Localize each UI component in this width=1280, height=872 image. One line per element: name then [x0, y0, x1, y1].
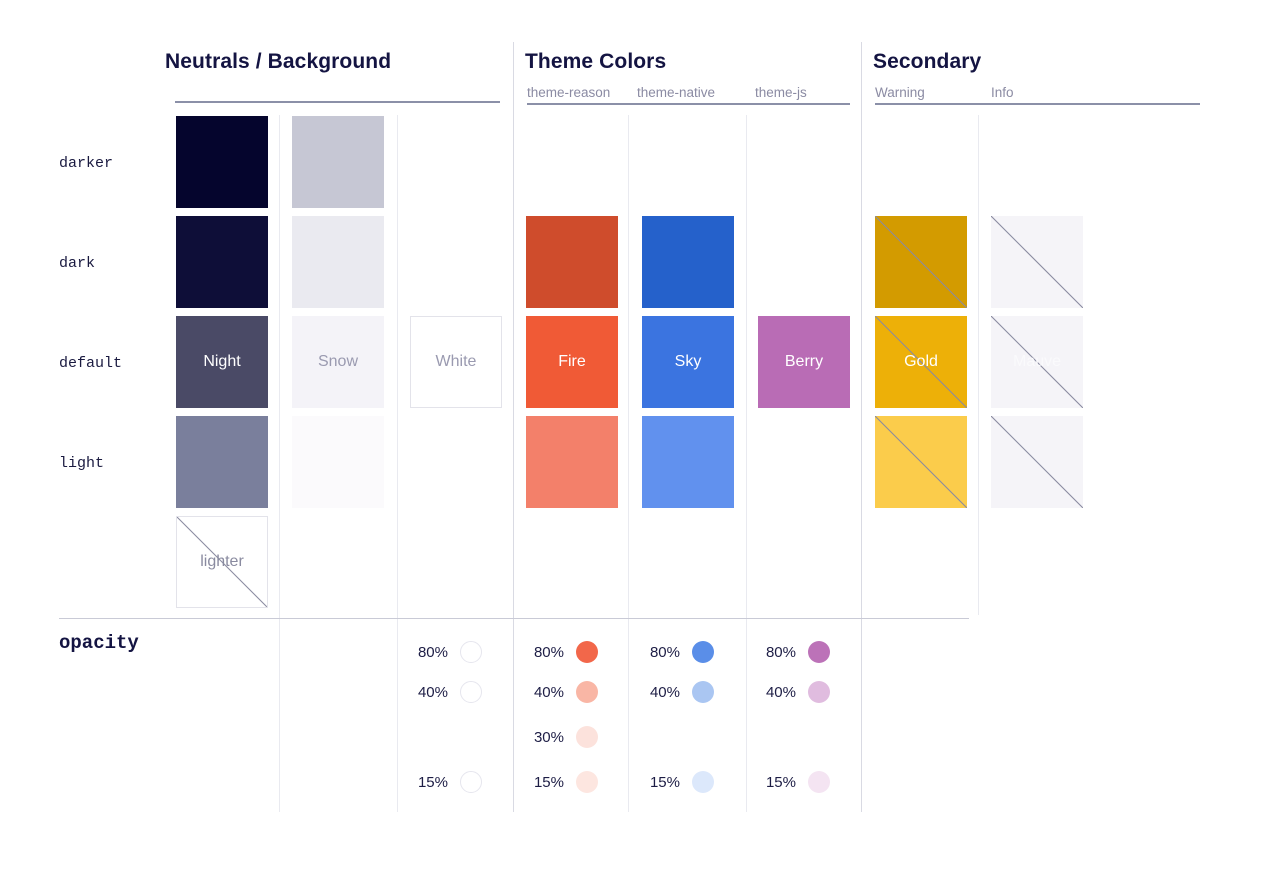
opacity-dot-white	[460, 641, 482, 663]
opacity-dot-fire	[576, 726, 598, 748]
opacity-item-white-15[interactable]: 15%	[410, 771, 482, 793]
opacity-dot-sky	[692, 641, 714, 663]
opacity-item-sky-15[interactable]: 15%	[642, 771, 714, 793]
opacity-item-fire-40[interactable]: 40%	[526, 681, 598, 703]
opacity-dot-fire	[576, 681, 598, 703]
opacity-dot-berry	[808, 771, 830, 793]
opacity-item-fire-30[interactable]: 30%	[526, 726, 598, 748]
opacity-value-label: 40%	[410, 684, 448, 701]
opacity-dot-fire	[576, 641, 598, 663]
opacity-item-white-80[interactable]: 80%	[410, 641, 482, 663]
opacity-item-berry-15[interactable]: 15%	[758, 771, 830, 793]
opacity-value-label: 15%	[642, 774, 680, 791]
opacity-value-label: 80%	[410, 644, 448, 661]
opacity-dot-sky	[692, 681, 714, 703]
opacity-item-berry-40[interactable]: 40%	[758, 681, 830, 703]
palette-sheet: Neutrals / Background Theme Colors theme…	[0, 0, 1280, 872]
opacity-value-label: 40%	[642, 684, 680, 701]
opacity-dot-berry	[808, 681, 830, 703]
opacity-value-label: 15%	[526, 774, 564, 791]
opacity-dot-sky	[692, 771, 714, 793]
opacity-item-sky-40[interactable]: 40%	[642, 681, 714, 703]
opacity-item-berry-80[interactable]: 80%	[758, 641, 830, 663]
opacity-value-label: 30%	[526, 729, 564, 746]
opacity-value-label: 80%	[526, 644, 564, 661]
opacity-dot-berry	[808, 641, 830, 663]
opacity-dot-fire	[576, 771, 598, 793]
opacity-dot-white	[460, 771, 482, 793]
opacity-value-label: 80%	[642, 644, 680, 661]
opacity-item-white-40[interactable]: 40%	[410, 681, 482, 703]
opacity-item-sky-80[interactable]: 80%	[642, 641, 714, 663]
opacity-value-label: 40%	[758, 684, 796, 701]
opacity-item-fire-80[interactable]: 80%	[526, 641, 598, 663]
opacity-value-label: 15%	[410, 774, 448, 791]
opacity-value-label: 40%	[526, 684, 564, 701]
opacity-value-label: 80%	[758, 644, 796, 661]
opacity-grid: 80%40%15%80%40%30%15%80%40%15%80%40%15%	[0, 0, 1280, 872]
opacity-dot-white	[460, 681, 482, 703]
opacity-value-label: 15%	[758, 774, 796, 791]
opacity-item-fire-15[interactable]: 15%	[526, 771, 598, 793]
